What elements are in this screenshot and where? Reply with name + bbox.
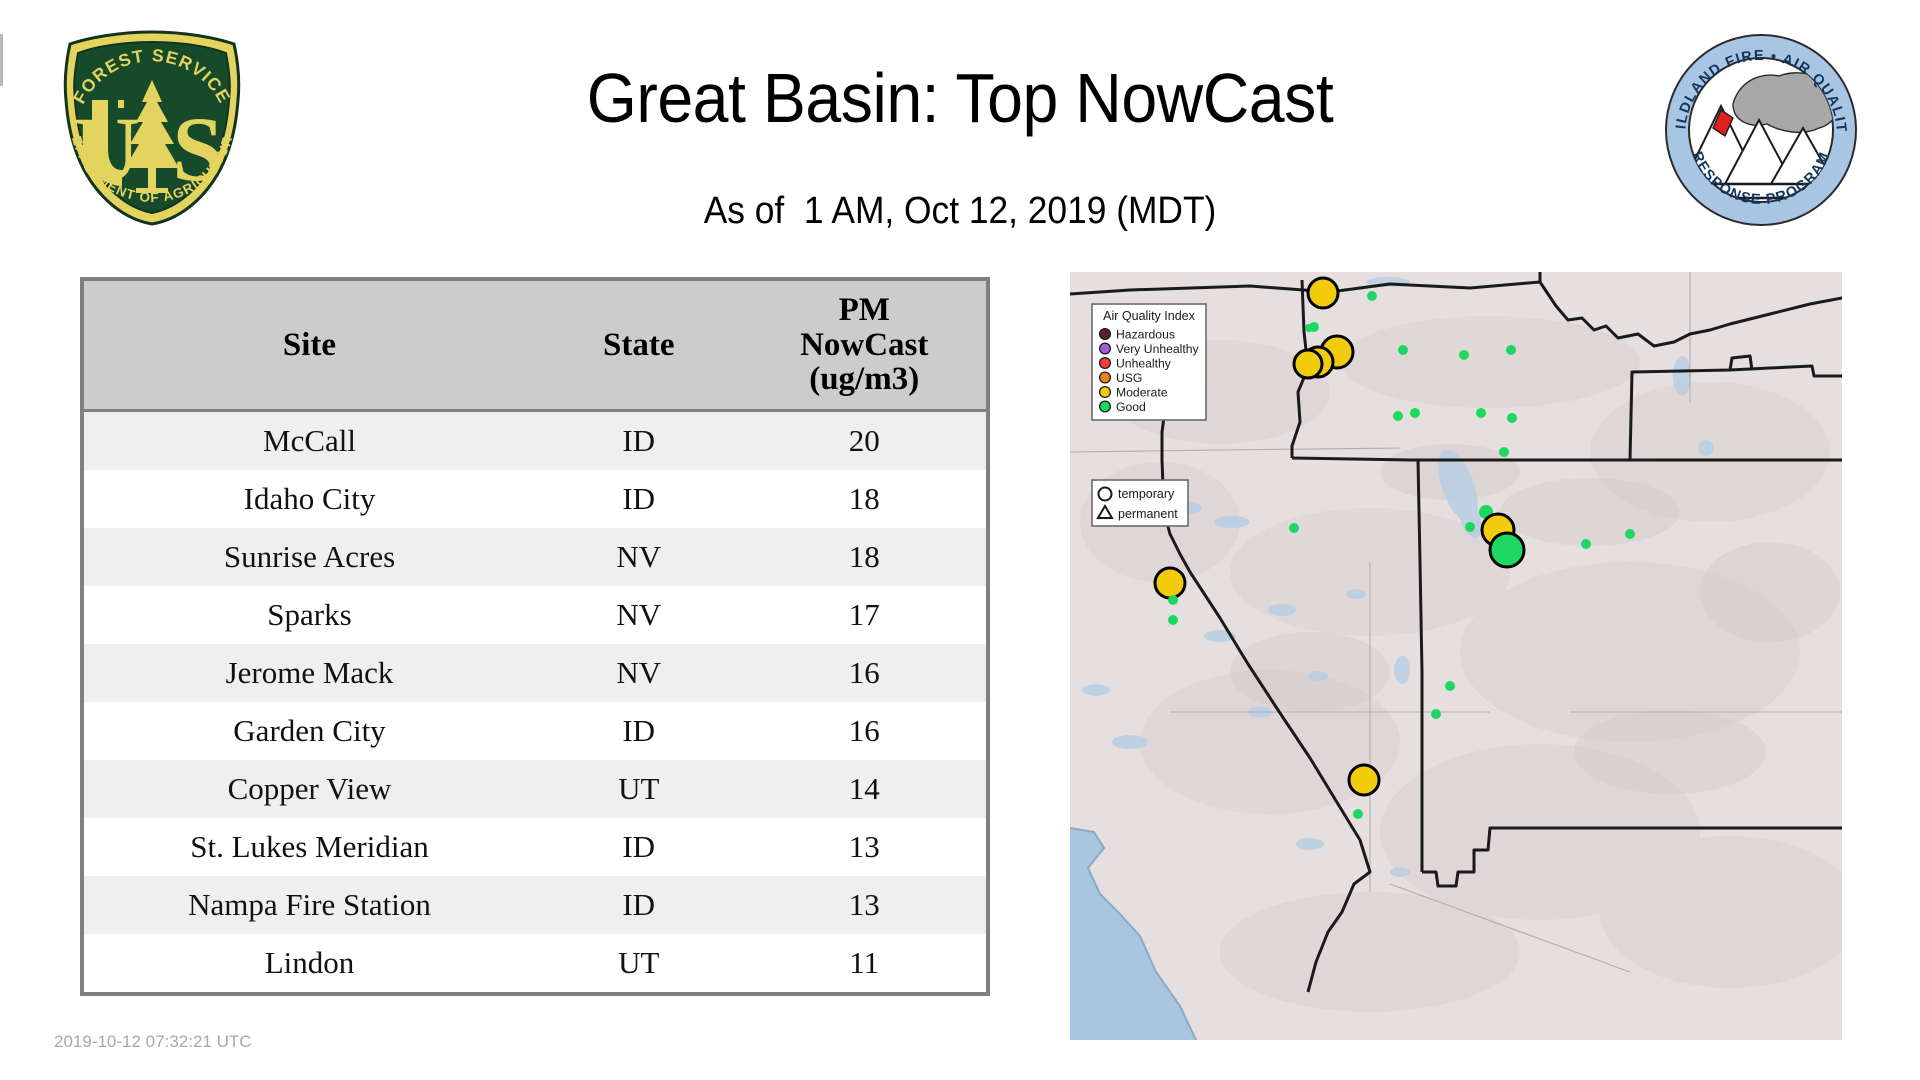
- table-row: Nampa Fire StationID13: [84, 876, 986, 934]
- great-basin-monitor-map[interactable]: Air Quality Index HazardousVery Unhealth…: [1070, 272, 1842, 1040]
- state-cell: ID: [535, 470, 742, 528]
- map-monitor-marker[interactable]: [1465, 522, 1475, 532]
- legend-swatch-good: [1100, 401, 1111, 412]
- map-monitor-marker[interactable]: [1398, 345, 1408, 355]
- map-monitor-marker[interactable]: [1168, 615, 1178, 625]
- pm-cell: 11: [742, 934, 986, 992]
- table-row: Sunrise AcresNV18: [84, 528, 986, 586]
- pm-cell: 20: [742, 411, 986, 471]
- map-monitor-marker[interactable]: [1305, 324, 1313, 332]
- pm-cell: 17: [742, 586, 986, 644]
- legend-swatch-usg: [1100, 372, 1111, 383]
- legend-swatch-unhealthy: [1100, 358, 1111, 369]
- site-cell: Jerome Mack: [84, 644, 535, 702]
- map-monitor-marker[interactable]: [1353, 809, 1363, 819]
- pm-cell: 18: [742, 528, 986, 586]
- map-monitor-marker[interactable]: [1155, 568, 1185, 598]
- pm-cell: 16: [742, 644, 986, 702]
- pm-cell: 14: [742, 760, 986, 818]
- legend-label-hazardous: Hazardous: [1116, 327, 1175, 341]
- map-monitor-marker[interactable]: [1168, 595, 1178, 605]
- state-cell: ID: [535, 411, 742, 471]
- map-monitor-marker[interactable]: [1499, 447, 1509, 457]
- pm-cell: 18: [742, 470, 986, 528]
- page-title: Great Basin: Top NowCast: [390, 58, 1531, 138]
- legend-title-aqi: Air Quality Index: [1103, 309, 1195, 323]
- state-cell: NV: [535, 528, 742, 586]
- state-cell: NV: [535, 586, 742, 644]
- legend-swatch-very-unhealthy: [1100, 343, 1111, 354]
- page-subtitle: As of 1 AM, Oct 12, 2019 (MDT): [383, 190, 1536, 233]
- pm-cell: 16: [742, 702, 986, 760]
- map-monitor-marker[interactable]: [1431, 709, 1441, 719]
- map-monitor-marker[interactable]: [1294, 350, 1322, 378]
- map-monitor-marker[interactable]: [1459, 350, 1469, 360]
- top-nowcast-table: Site State PM NowCast (ug/m3) McCallID20…: [80, 277, 990, 996]
- site-cell: Nampa Fire Station: [84, 876, 535, 934]
- table-row: LindonUT11: [84, 934, 986, 992]
- column-header-state: State: [535, 281, 742, 411]
- map-monitor-marker[interactable]: [1349, 765, 1379, 795]
- table-row: Idaho CityID18: [84, 470, 986, 528]
- column-header-pm-nowcast: PM NowCast (ug/m3): [742, 281, 986, 411]
- state-cell: ID: [535, 876, 742, 934]
- us-forest-service-shield-logo: U S FOREST SERVICE DEPARTMENT OF AGRICUL…: [48, 28, 256, 228]
- pm-cell: 13: [742, 876, 986, 934]
- site-cell: Sunrise Acres: [84, 528, 535, 586]
- legend-label-usg: USG: [1116, 371, 1142, 385]
- state-cell: ID: [535, 702, 742, 760]
- legend-label-good: Good: [1116, 400, 1146, 414]
- map-legend-site-type: temporary permanent: [1092, 480, 1188, 526]
- map-monitor-marker[interactable]: [1490, 533, 1524, 567]
- map-monitor-marker[interactable]: [1581, 539, 1591, 549]
- table-row: Jerome MackNV16: [84, 644, 986, 702]
- site-cell: St. Lukes Meridian: [84, 818, 535, 876]
- site-cell: Garden City: [84, 702, 535, 760]
- map-monitor-marker[interactable]: [1506, 345, 1516, 355]
- legend-label-very-unhealthy: Very Unhealthy: [1116, 342, 1200, 356]
- site-cell: Idaho City: [84, 470, 535, 528]
- map-monitor-marker[interactable]: [1410, 408, 1420, 418]
- table-row: SparksNV17: [84, 586, 986, 644]
- table-row: St. Lukes MeridianID13: [84, 818, 986, 876]
- table-header-row: Site State PM NowCast (ug/m3): [84, 281, 986, 411]
- table-row: McCallID20: [84, 411, 986, 471]
- legend-swatch-moderate: [1100, 387, 1111, 398]
- map-monitor-marker[interactable]: [1625, 529, 1635, 539]
- wildland-fire-air-quality-badge-logo: WILDLAND FIRE • AIR QUALITY RESPONSE PRO…: [1663, 32, 1859, 228]
- state-cell: ID: [535, 818, 742, 876]
- site-cell: Sparks: [84, 586, 535, 644]
- map-monitor-marker[interactable]: [1308, 278, 1338, 308]
- legend-label-unhealthy: Unhealthy: [1116, 356, 1172, 370]
- table-row: Copper ViewUT14: [84, 760, 986, 818]
- site-cell: McCall: [84, 411, 535, 471]
- state-cell: UT: [535, 760, 742, 818]
- pm-cell: 13: [742, 818, 986, 876]
- state-cell: NV: [535, 644, 742, 702]
- site-cell: Copper View: [84, 760, 535, 818]
- column-header-pm-line2: NowCast: [800, 327, 928, 363]
- map-monitor-marker[interactable]: [1393, 411, 1403, 421]
- legend-label-moderate: Moderate: [1116, 385, 1168, 399]
- edge-artifact: [0, 34, 3, 86]
- table-row: Garden CityID16: [84, 702, 986, 760]
- map-monitor-marker[interactable]: [1367, 291, 1377, 301]
- column-header-pm-line1: PM: [839, 292, 890, 328]
- map-monitor-marker[interactable]: [1476, 408, 1486, 418]
- generation-timestamp: 2019-10-12 07:32:21 UTC: [54, 1032, 252, 1052]
- map-monitor-marker[interactable]: [1507, 413, 1517, 423]
- legend-label-temporary: temporary: [1118, 487, 1175, 501]
- map-monitor-marker[interactable]: [1445, 681, 1455, 691]
- column-header-pm-line3: (ug/m3): [809, 361, 919, 397]
- legend-swatch-hazardous: [1100, 329, 1111, 340]
- legend-label-permanent: permanent: [1118, 507, 1178, 521]
- map-legend-air-quality-index: Air Quality Index HazardousVery Unhealth…: [1092, 304, 1206, 420]
- site-cell: Lindon: [84, 934, 535, 992]
- column-header-site: Site: [84, 281, 535, 411]
- state-cell: UT: [535, 934, 742, 992]
- map-monitor-marker[interactable]: [1289, 523, 1299, 533]
